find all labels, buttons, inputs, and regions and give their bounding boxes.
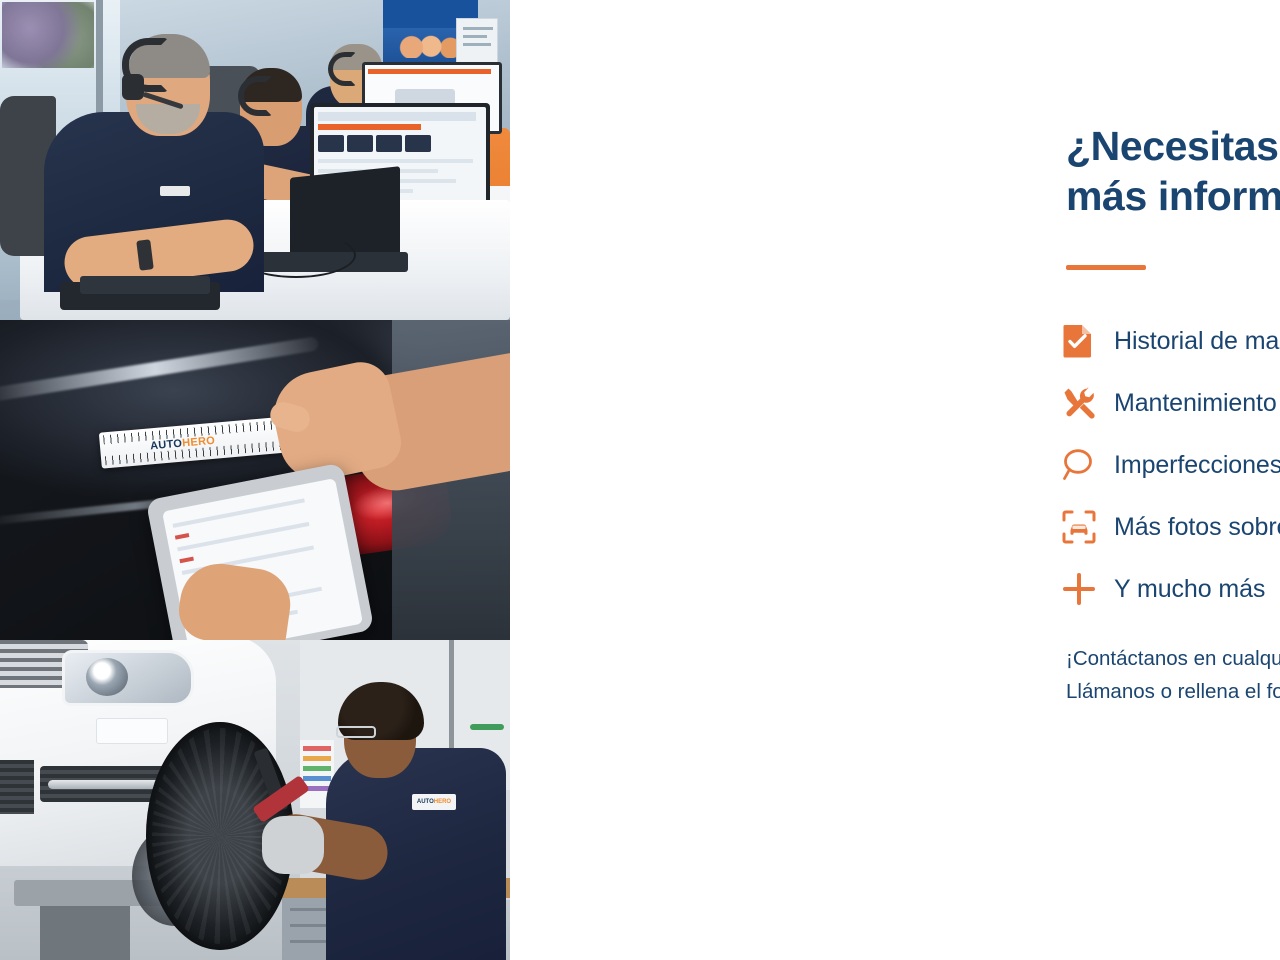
polo-brand-hero: HERO [434, 799, 451, 805]
licence-plate-blank [96, 718, 168, 744]
promo-page: AUTOHERO [0, 0, 1280, 960]
side-vent [0, 760, 34, 814]
headlight-lens [86, 658, 128, 696]
agent-3-headset-icon [328, 52, 356, 86]
workshop-wheel-mechanic-photo: AUTOHERO [0, 640, 510, 960]
contact-text: ¡Contáctanos en cualquier momento para m… [1066, 642, 1280, 708]
desk-notebook [80, 276, 210, 294]
polo-brand-logo [160, 186, 190, 196]
page-title: ¿Necesitas más información? [1066, 121, 1280, 221]
feature-item-mas: Y mucho más [1062, 558, 1280, 620]
accent-divider [1066, 265, 1146, 270]
safety-glasses [336, 726, 376, 738]
car-inspection-ruler-photo: AUTOHERO [0, 320, 510, 640]
plus-icon [1062, 572, 1114, 606]
feature-item-imperfecciones: Imperfecciones [1062, 434, 1280, 496]
feature-list: Historial de mantenimientos Mantenimient… [1062, 310, 1280, 620]
headline-line-2: más información? [1066, 171, 1280, 221]
call-center-agents-photo [0, 0, 510, 320]
lift-column [40, 906, 130, 960]
work-glove [262, 816, 324, 874]
car-headlight [62, 650, 194, 706]
feature-label: Mantenimiento realizado [1114, 389, 1280, 418]
car-scan-icon [1062, 510, 1114, 544]
document-check-icon [1062, 324, 1114, 358]
agent-1-headset-cup [122, 74, 144, 100]
outside-foliage [2, 2, 94, 68]
contact-line-1: ¡Contáctanos en cualquier momento para m… [1066, 642, 1280, 675]
tools-icon [1062, 386, 1114, 420]
feature-item-historial: Historial de mantenimientos [1062, 310, 1280, 372]
polo-brand-auto: AUTO [417, 799, 434, 805]
feature-item-mantenimiento: Mantenimiento realizado [1062, 372, 1280, 434]
magnifier-icon [1062, 448, 1114, 482]
contact-line-2: Llámanos o rellena el formulario de cont… [1066, 675, 1280, 708]
green-hose [470, 724, 504, 730]
feature-label: Más fotos sobre el coche [1114, 513, 1280, 542]
feature-label: Historial de mantenimientos [1114, 327, 1280, 356]
mechanic-polo-logo: AUTOHERO [412, 794, 456, 810]
info-panel: ¿Necesitas más información? Estamos enca [510, 0, 1280, 960]
feature-item-fotos: Más fotos sobre el coche [1062, 496, 1280, 558]
feature-label: Y mucho más [1114, 575, 1265, 604]
photo-collage: AUTOHERO [0, 0, 510, 960]
feature-label: Imperfecciones [1114, 451, 1280, 480]
agent-2-headset-icon [238, 76, 272, 116]
headline-line-1: ¿Necesitas [1066, 121, 1280, 171]
